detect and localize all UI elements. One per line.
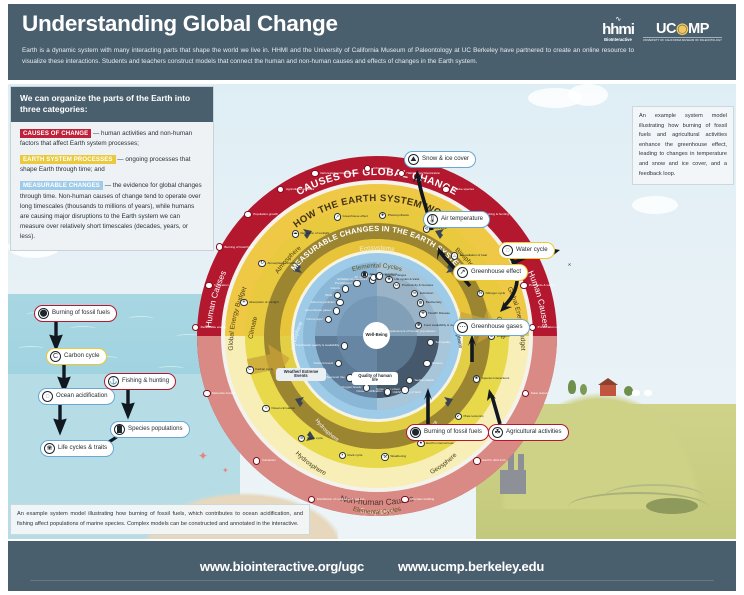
wheel-node-label: Clouds <box>331 287 341 290</box>
leaf-icon: ❦ <box>379 212 386 219</box>
wheel-node[interactable]: ⋯Greenhouse gases <box>305 307 340 314</box>
ucmp-logo-sub: UNIVERSITY OF CALIFORNIA MUSEUM OF PALEO… <box>643 37 722 42</box>
fish-hook-icon: ⚓ <box>108 376 119 387</box>
rock-cycle-icon: ◗ <box>339 452 346 459</box>
model-bubble[interactable]: ☘Agricultural activities <box>488 424 569 441</box>
model-bubble-label: Life cycles & traits <box>58 445 107 452</box>
footer-divider <box>30 580 714 581</box>
wheel-node-label: Greenhouse effect <box>342 215 367 218</box>
wheel-node-label: Absorption of sunlight <box>249 301 279 304</box>
freshwater-icon: ☗ <box>341 342 348 349</box>
ocean-current-icon: ≈ <box>262 405 269 412</box>
water-cycle-icon: ≋ <box>298 435 305 442</box>
model-bubble[interactable]: ⛰Snow & ice cover <box>404 151 476 168</box>
wheel-node[interactable]: ⌗Population growth <box>244 211 278 218</box>
wheel-node[interactable]: ↗Greenhouse effect <box>334 213 368 220</box>
tractor-icon <box>646 498 698 514</box>
ucmp-accent-icon: ◉ <box>676 22 688 37</box>
ocean-icon: ◌ <box>42 391 53 402</box>
population-icon: █ <box>361 271 368 278</box>
smokestack-icon: ⬤ <box>38 308 49 319</box>
infographic-page: Understanding Global Change Earth is a d… <box>0 0 744 595</box>
wheel-node[interactable]: ♣Deforestation/ Reforestation <box>311 170 358 177</box>
wheel-node-label: Ozone layer <box>306 318 323 321</box>
carbon-cycle-icon: C <box>50 351 61 362</box>
model-bubble[interactable]: 🌡Air temperature <box>423 211 490 228</box>
wheel-node-label: Carbon cycle <box>255 368 273 371</box>
model-bubble-label: Water cycle <box>516 247 548 254</box>
wheel-node[interactable]: ▉Urbanization <box>364 165 390 172</box>
wheel-node[interactable]: ◔Distribution of continents & oceans <box>308 496 365 503</box>
model-bubble-label: Greenhouse gases <box>471 324 523 331</box>
wheel-node-label: Rock cycle <box>347 454 362 457</box>
model-bubble[interactable]: ❀Life cycles & traits <box>40 440 114 457</box>
hhmi-logo: ∿ hhmi BioInteractive <box>602 17 634 42</box>
wheel-node-label: Water cycle <box>307 437 323 440</box>
wheel-node-label: Nutrient levels <box>314 362 334 365</box>
wheel-node-label: Agricultural activities <box>286 188 314 191</box>
wheel-node-label: Reflection of sunlight <box>300 232 329 235</box>
nutrient-icon: ⚘ <box>335 360 342 367</box>
logo-group: ∿ hhmi BioInteractive UC◉MP UNIVERSITY O… <box>602 17 722 42</box>
footer-link-biointeractive[interactable]: www.biointeractive.org/ugc <box>200 559 364 574</box>
wheel-node-label: Distribution of continents & oceans <box>317 498 365 501</box>
wheel-node[interactable]: ≈Ocean circulation <box>262 405 295 412</box>
wheel-node[interactable]: ≋Wind <box>325 292 341 299</box>
particles-icon: ░ <box>336 299 343 306</box>
model-bubble-label: Carbon cycle <box>64 353 100 360</box>
header: Understanding Global Change Earth is a d… <box>8 4 736 80</box>
wheel-node[interactable]: ⚘Nutrient levels <box>314 360 343 367</box>
greenhouse-icon: ↗ <box>334 213 341 220</box>
wheel-node[interactable]: CCarbon cycle <box>246 366 273 373</box>
cow-icon <box>644 390 652 396</box>
model-bubble-label: Burning of fossil fuels <box>52 310 110 317</box>
model-bubble[interactable]: ⋯Greenhouse gases <box>453 319 530 336</box>
wheel-node-label: Freshwater quality & availability <box>296 344 339 347</box>
water-cycle-icon: ◌ <box>502 245 513 256</box>
wheel-node[interactable]: ⬤Burning of fossil fuels <box>216 243 254 250</box>
wheel-node[interactable]: ♁Earth's orbit & tilt <box>473 457 505 464</box>
wheel-node[interactable]: ◎Ozone layer <box>306 316 332 323</box>
carbon-cycle-icon: C <box>246 366 253 373</box>
orbit-icon: ♁ <box>473 457 480 464</box>
core-label-weather: Weather/ Extreme Events <box>276 368 326 381</box>
model-bubble-label: Agricultural activities <box>506 429 562 436</box>
caption-right-example: An example system model illustrating how… <box>632 106 734 185</box>
wheel-node-label: Volcanism <box>262 459 276 462</box>
legend-row: CAUSES OF CHANGE — human activities and … <box>20 129 204 149</box>
wheel-node-label: Sea level rise <box>326 376 345 379</box>
population-icon: █ <box>114 424 125 435</box>
wheel-node-label: Earth's orbit & tilt <box>482 459 505 462</box>
cow-icon: ☘ <box>492 427 503 438</box>
wheel-node-label: Meteorite impact <box>212 392 235 395</box>
greenhouse-icon: ↗ <box>457 267 468 278</box>
oxygen-icon: O <box>363 384 370 391</box>
wind-icon: ≋ <box>334 292 341 299</box>
model-bubble-label: Species populations <box>128 426 183 433</box>
model-bubble-label: Greenhouse effect <box>471 269 521 276</box>
model-bubble-label: Ocean acidification <box>56 393 108 400</box>
scene: ✦ ✦ 🞫 🞫 <box>8 84 736 539</box>
circulation-icon: ↻ <box>258 260 265 267</box>
wheel-node[interactable]: ↻Atmospheric circulation <box>258 260 299 267</box>
cow-icon <box>632 390 640 396</box>
legend-heading: We can organize the parts of the Earth i… <box>11 87 213 122</box>
wheel-node-label: Oxygen levels <box>342 386 361 389</box>
wheel-node[interactable]: ⛰Mountain building <box>401 496 434 503</box>
legend-category-tag: MEASURABLE CHANGES <box>20 181 103 190</box>
footer-link-ucmp[interactable]: www.ucmp.berkeley.edu <box>398 559 544 574</box>
wheel-node[interactable]: ◗Rock cycle <box>339 452 363 459</box>
model-bubble[interactable]: ⚓Fishing & hunting <box>104 373 176 390</box>
wheel-node-label: Airborne particles <box>311 301 335 304</box>
continents-icon: ◔ <box>308 496 315 503</box>
cloud-icon <box>568 84 608 106</box>
ucmp-logo-text: UC◉MP <box>643 22 722 37</box>
model-bubble[interactable]: ⬤Burning of fossil fuels <box>34 305 117 322</box>
wheel-node[interactable]: ☀Absorption of sunlight <box>240 299 279 306</box>
wheel-node-label: Deforestation/ Reforestation <box>320 172 359 175</box>
legend-body: CAUSES OF CHANGE — human activities and … <box>11 122 213 250</box>
wheel-node[interactable]: ▲Volcanism <box>253 457 276 464</box>
caption-left-example: An example system model illustrating how… <box>10 504 310 535</box>
hhmi-logo-text: hhmi <box>602 23 634 37</box>
gas-molecules-icon: ⋯ <box>457 322 468 333</box>
wheel-node[interactable]: ◑Innovation <box>205 282 228 289</box>
ucmp-logo: UC◉MP UNIVERSITY OF CALIFORNIA MUSEUM OF… <box>643 22 722 42</box>
legend-panel: We can organize the parts of the Earth i… <box>10 86 214 251</box>
wheel-node[interactable]: ☘Agricultural activities <box>277 186 314 193</box>
wheel-node-label: Innovation <box>214 284 228 287</box>
model-bubble[interactable]: ◌Ocean acidification <box>38 388 115 405</box>
wheel-node-label: Weathering <box>390 455 406 458</box>
model-bubble[interactable]: CCarbon cycle <box>46 348 107 365</box>
wheel-node-label: Mountain building <box>410 498 434 501</box>
wheel-node-label: Greenhouse gases <box>305 309 331 312</box>
gas-icon: ⋯ <box>333 307 340 314</box>
wheel-node[interactable]: ⚒Weathering <box>381 453 406 460</box>
smokestack-icon: ⬤ <box>216 243 223 250</box>
legend-row: EARTH SYSTEM PROCESSES — ongoing process… <box>20 155 204 175</box>
footer: www.biointeractive.org/ugc www.ucmp.berk… <box>8 541 736 591</box>
model-bubble[interactable]: █Species populations <box>110 421 190 438</box>
wheel-node[interactable]: ☁Reflection of sunlight <box>292 230 330 237</box>
right-model-arrows <box>388 134 608 444</box>
sunlight-icon: ☀ <box>240 299 247 306</box>
snow-ice-icon: ⛰ <box>408 154 419 165</box>
mountain-icon: ⛰ <box>401 496 408 503</box>
thermometer-icon: 🌡 <box>427 214 438 225</box>
model-bubble-label: Burning of fossil fuels <box>424 429 482 436</box>
hhmi-logo-sub: BioInteractive <box>602 37 634 42</box>
header-intro: Earth is a dynamic system with many inte… <box>22 45 634 67</box>
wheel-node-label: Wind <box>325 294 332 297</box>
core-label-wellbeing: Well-Being <box>363 322 390 349</box>
smokestack-icon: ⬤ <box>410 427 421 438</box>
cow-icon: ☘ <box>277 186 284 193</box>
volcano-icon: ▲ <box>253 457 260 464</box>
lifecycle-icon: ❀ <box>44 443 55 454</box>
reflection-icon: ☁ <box>292 230 299 237</box>
cloud-icon <box>632 196 678 214</box>
model-bubble[interactable]: ↗Greenhouse effect <box>453 264 528 281</box>
legend-category-tag: EARTH SYSTEM PROCESSES <box>20 155 116 164</box>
globe-people-icon: ⌗ <box>244 211 251 218</box>
wheel-node-label: Population growth <box>253 213 278 216</box>
wheel-node[interactable]: ≋Sea level rise <box>326 374 353 381</box>
wheel-node[interactable]: ░Airborne particles <box>311 299 344 306</box>
wheel-node[interactable]: ☗Freshwater quality & availability <box>296 342 348 349</box>
model-bubble-label: Air temperature <box>441 216 483 223</box>
wheel-node-label: Atmospheric circulation <box>267 262 299 265</box>
wheel-node[interactable]: OOxygen levels <box>342 384 370 391</box>
wheel-node-label: Ocean circulation <box>271 407 295 410</box>
ranges-icon: ◔ <box>376 272 383 279</box>
legend-category-text: — the evidence for global changes throug… <box>20 182 202 240</box>
buildings-icon: ▉ <box>364 165 371 172</box>
model-bubble-label: Snow & ice cover <box>422 156 469 163</box>
ozone-icon: ◎ <box>325 316 332 323</box>
model-bubble[interactable]: ⬤Burning of fossil fuels <box>406 424 489 441</box>
weathering-icon: ⚒ <box>381 453 388 460</box>
wheel-node[interactable]: ≋Water cycle <box>298 435 323 442</box>
model-bubble[interactable]: ◌Water cycle <box>498 242 555 259</box>
wheel-node-label: Burning of fossil fuels <box>224 246 253 249</box>
model-bubble-label: Fishing & hunting <box>122 378 169 385</box>
legend-row: MEASURABLE CHANGES — the evidence for gl… <box>20 181 204 242</box>
tree-icon: ♣ <box>311 170 318 177</box>
legend-category-tag: CAUSES OF CHANGE <box>20 129 91 138</box>
